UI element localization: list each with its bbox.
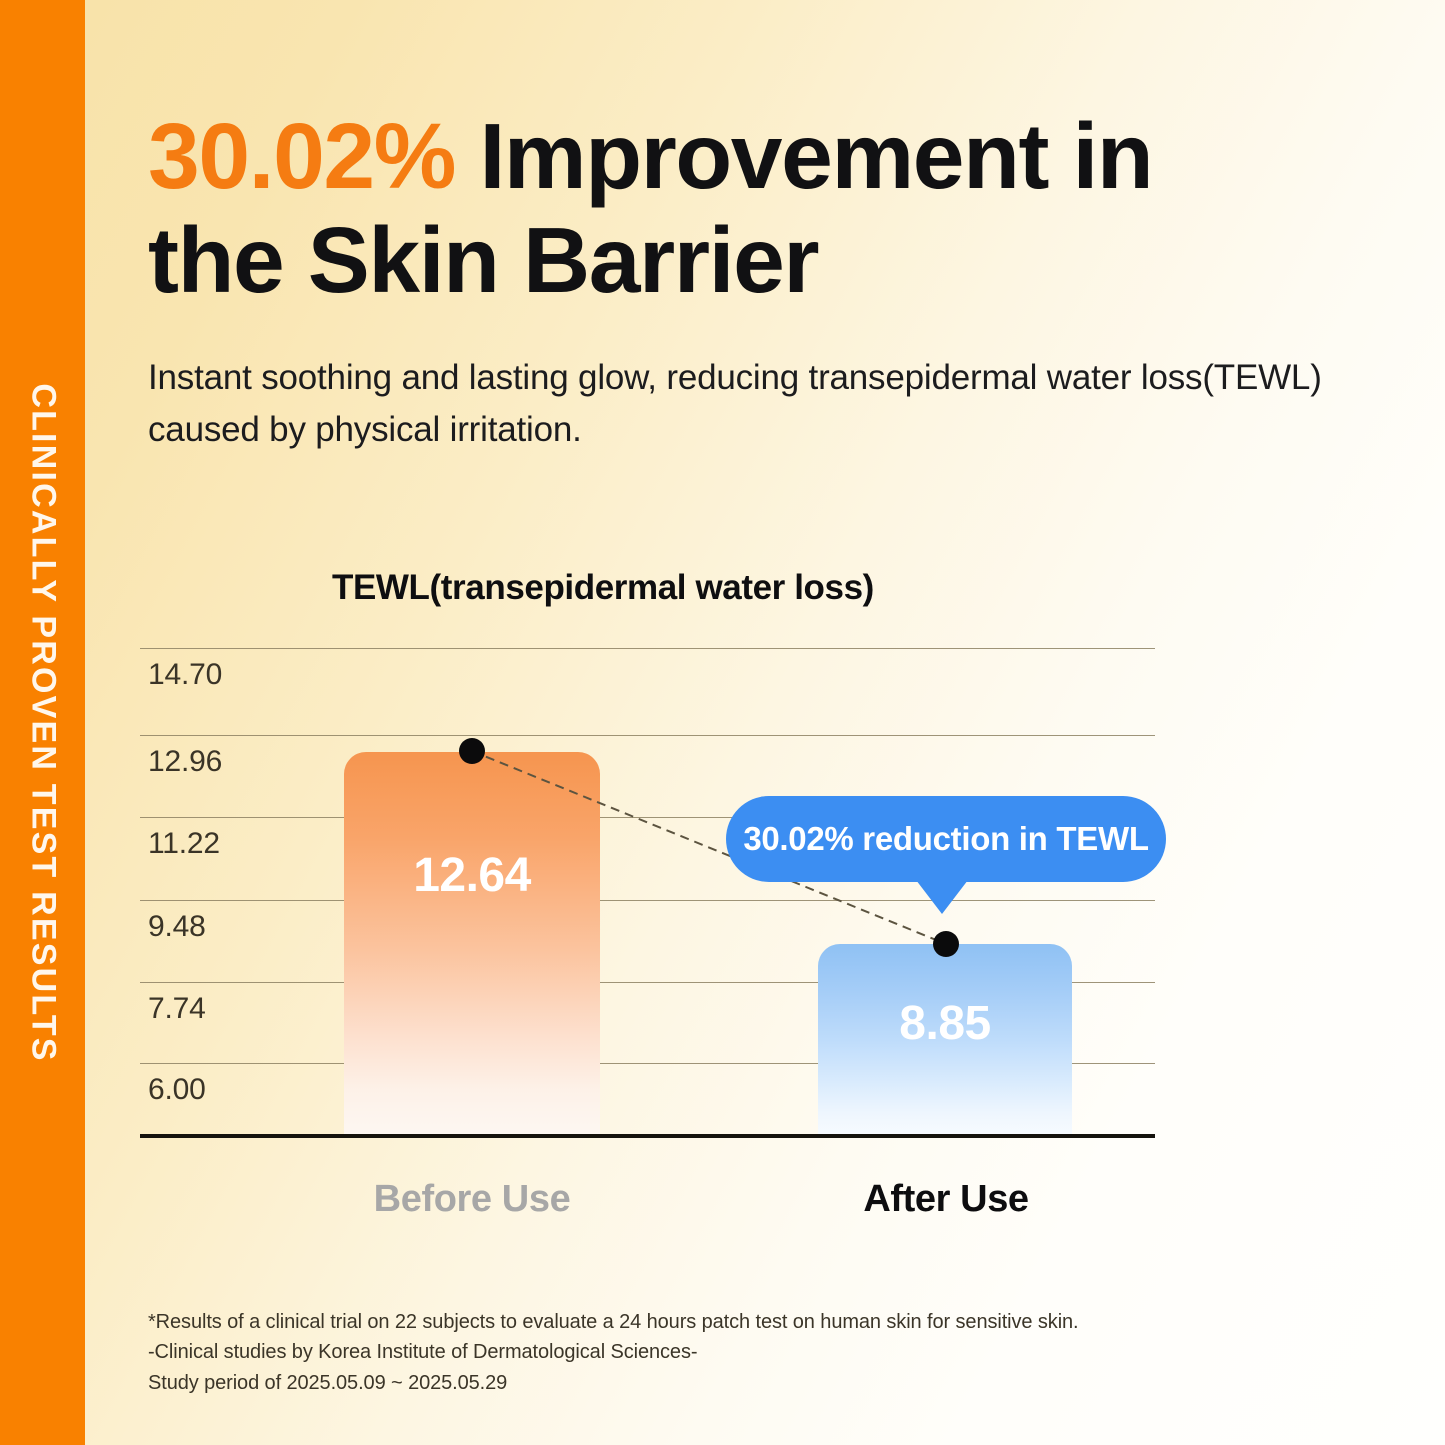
bar-value-before: 12.64 xyxy=(344,848,600,903)
bar-after-use: 8.85 xyxy=(818,944,1072,1136)
page-subtitle: Instant soothing and lasting glow, reduc… xyxy=(148,352,1378,456)
footnote-line-1: *Results of a clinical trial on 22 subje… xyxy=(148,1307,1079,1337)
reduction-callout: 30.02% reduction in TEWL xyxy=(726,796,1166,882)
y-axis-tick-label: 6.00 xyxy=(148,1073,206,1107)
page-title: 30.02% Improvement in the Skin Barrier xyxy=(148,104,1268,312)
x-axis-line xyxy=(140,1134,1155,1138)
chart-title: TEWL(transepidermal water loss) xyxy=(332,568,874,608)
x-axis-label-before: Before Use xyxy=(330,1178,614,1221)
reduction-callout-label: 30.02% reduction in TEWL xyxy=(743,820,1148,858)
side-banner-label: CLINICALLY PROVEN TEST RESULTS xyxy=(23,383,62,1062)
footnote: *Results of a clinical trial on 22 subje… xyxy=(148,1307,1079,1398)
y-axis-tick-label: 9.48 xyxy=(148,910,206,944)
x-axis-label-after: After Use xyxy=(806,1178,1086,1221)
data-point-after xyxy=(933,931,959,957)
y-axis-tick-label: 11.22 xyxy=(148,827,220,861)
y-axis-tick-label: 14.70 xyxy=(148,658,222,692)
gridline xyxy=(140,735,1155,736)
y-axis-tick-label: 7.74 xyxy=(148,992,206,1026)
footnote-line-2: -Clinical studies by Korea Institute of … xyxy=(148,1337,1079,1367)
gridline xyxy=(140,900,1155,901)
data-point-before xyxy=(459,738,485,764)
y-axis-tick-label: 12.96 xyxy=(148,745,222,779)
footnote-line-3: Study period of 2025.05.09 ~ 2025.05.29 xyxy=(148,1368,1079,1398)
gridline xyxy=(140,648,1155,649)
bar-value-after: 8.85 xyxy=(818,996,1072,1051)
callout-tail-icon xyxy=(916,880,968,914)
infographic-canvas: CLINICALLY PROVEN TEST RESULTS 30.02% Im… xyxy=(0,0,1445,1445)
side-banner: CLINICALLY PROVEN TEST RESULTS xyxy=(0,0,85,1445)
bar-before-use: 12.64 xyxy=(344,752,600,1136)
headline-percent: 30.02% xyxy=(148,104,455,208)
